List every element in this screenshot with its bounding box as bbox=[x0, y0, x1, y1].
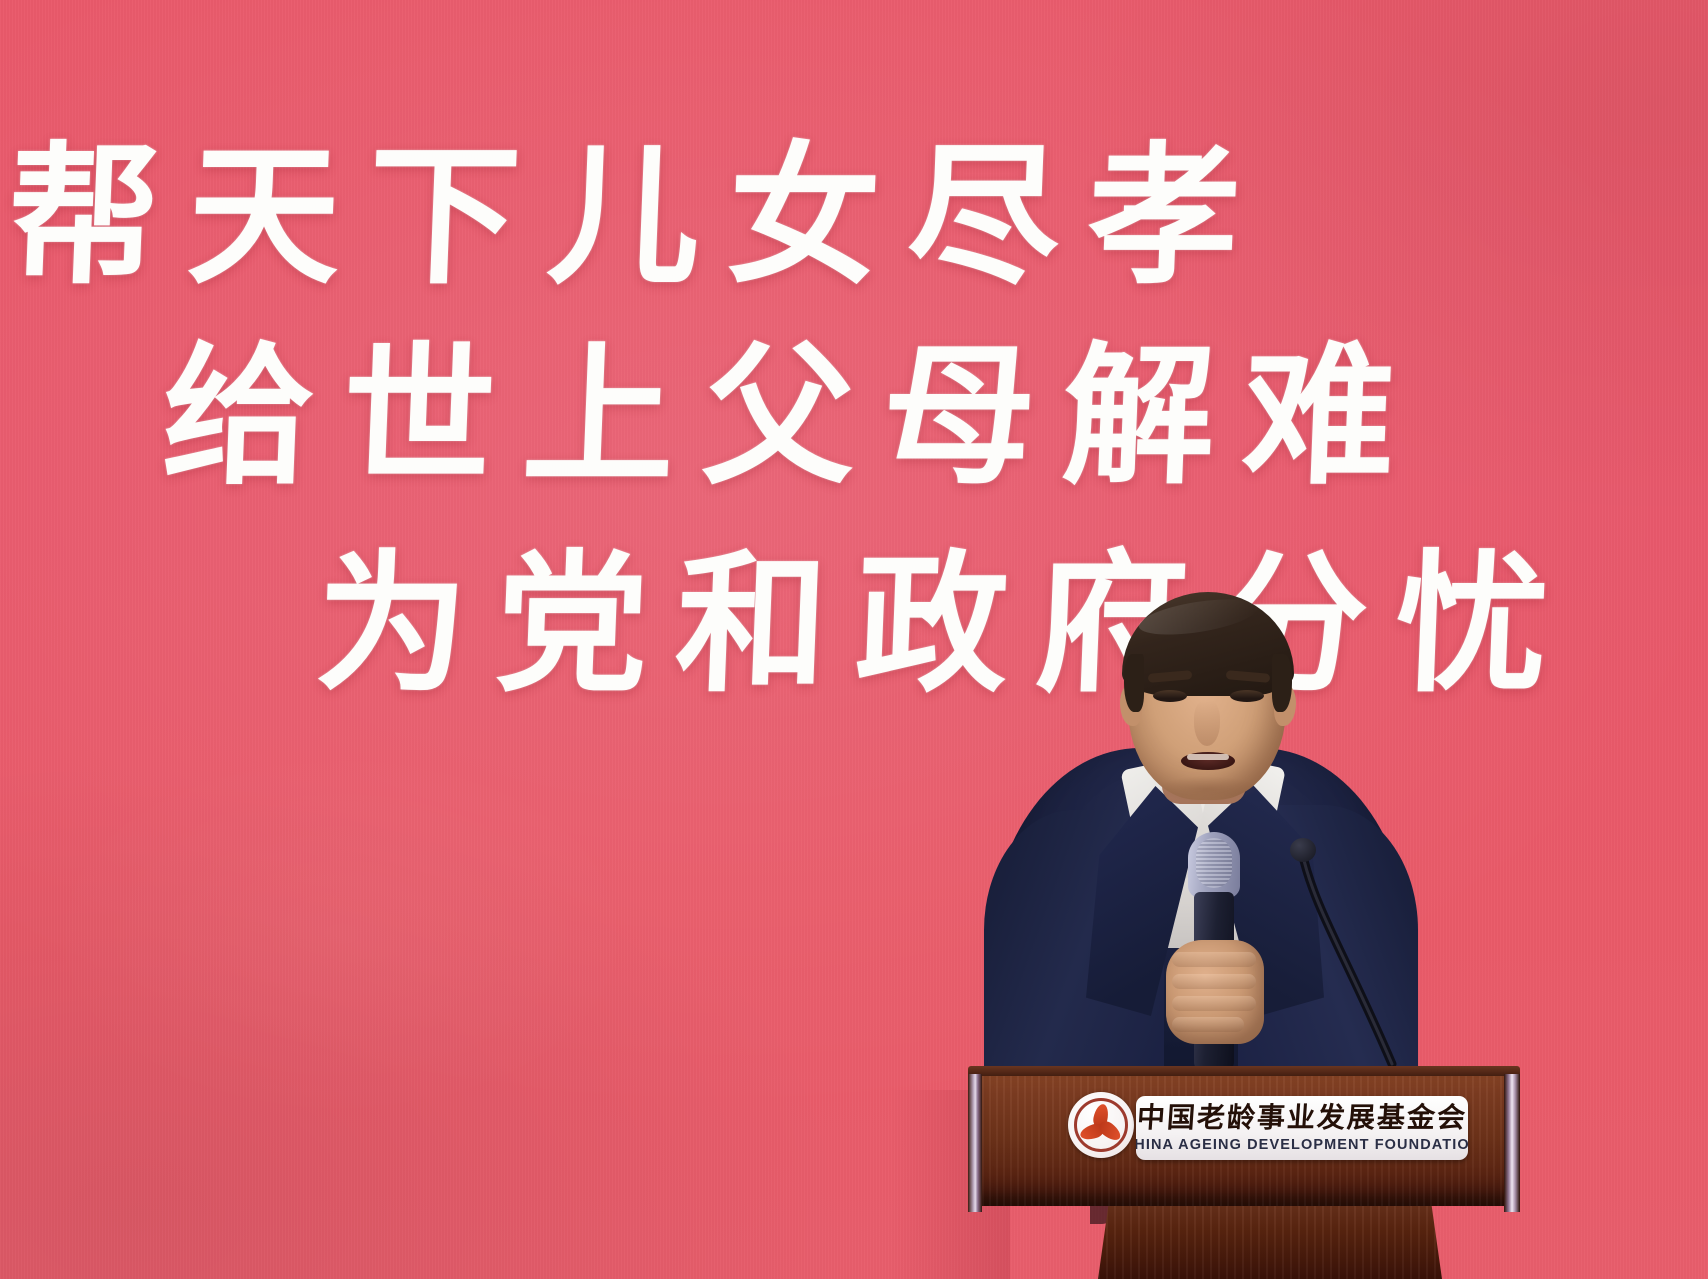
gooseneck-microphone-capsule bbox=[1290, 838, 1316, 862]
podium-base-column bbox=[1098, 1206, 1442, 1279]
microphone-head bbox=[1188, 832, 1240, 898]
speaker-sideburn-left bbox=[1124, 654, 1144, 712]
finger bbox=[1172, 974, 1256, 989]
slogan-line-2: 给世上父母解难 bbox=[160, 340, 1426, 492]
stage-scene: 帮天下儿女尽孝 给世上父母解难 为党和政府分忧 bbox=[0, 0, 1708, 1279]
speaker-mouth bbox=[1181, 752, 1235, 770]
speaker-chin-shadow bbox=[1156, 776, 1258, 802]
speaker-eye-right bbox=[1230, 690, 1264, 702]
foundation-emblem-icon bbox=[1068, 1092, 1134, 1158]
speaker-hand bbox=[1166, 940, 1264, 1044]
speaker-sideburn-right bbox=[1272, 654, 1292, 712]
podium-right-rail bbox=[1504, 1074, 1520, 1212]
gooseneck-microphone-icon bbox=[1288, 838, 1408, 1068]
finger bbox=[1172, 952, 1256, 967]
podium-left-rail bbox=[968, 1074, 982, 1212]
speaker-nose bbox=[1194, 700, 1220, 746]
speaker-eye-left bbox=[1153, 690, 1187, 702]
organization-name-chinese: 中国老龄事业发展基金会 bbox=[1136, 1104, 1468, 1132]
finger bbox=[1172, 1017, 1244, 1032]
podium-nameplate: 中国老龄事业发展基金会 CHINA AGEING DEVELOPMENT FOU… bbox=[1136, 1096, 1468, 1160]
podium: 中国老龄事业发展基金会 CHINA AGEING DEVELOPMENT FOU… bbox=[930, 1066, 1520, 1279]
slogan-line-1: 帮天下儿女尽孝 bbox=[5, 140, 1271, 292]
finger bbox=[1172, 996, 1256, 1011]
organization-name-english: CHINA AGEING DEVELOPMENT FOUNDATION bbox=[1136, 1137, 1468, 1153]
